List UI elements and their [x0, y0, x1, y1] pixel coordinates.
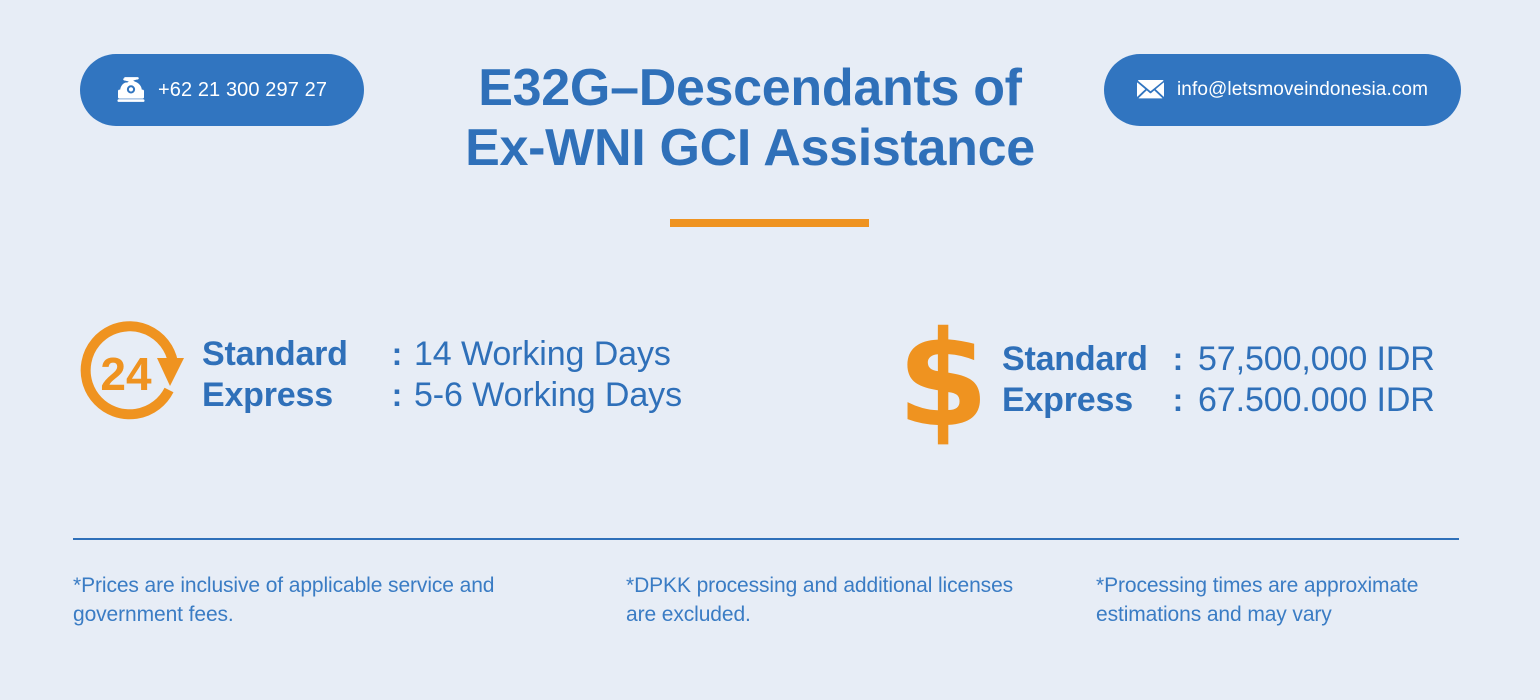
row-label: Standard: [1002, 340, 1158, 379]
info-band: 24 Standard : 14 Working Days Express : …: [0, 300, 1540, 460]
footnote-dpkk: *DPKK processing and additional licenses…: [626, 572, 1026, 629]
row-label: Express: [1002, 381, 1158, 420]
telephone-icon: [117, 77, 145, 103]
row-separator: :: [380, 377, 414, 414]
24-hour-clock-arrow-icon: 24: [74, 316, 192, 434]
phone-contact-pill[interactable]: +62 21 300 297 27: [80, 54, 364, 126]
envelope-icon: [1137, 80, 1164, 100]
pricing-row-express: Express : 67.500.000 IDR: [1002, 381, 1435, 420]
footnotes: *Prices are inclusive of applicable serv…: [0, 572, 1540, 662]
processing-time-rows: Standard : 14 Working Days Express : 5-6…: [202, 335, 682, 415]
page-title: E32G–Descendants of Ex-WNI GCI Assistanc…: [370, 58, 1130, 179]
dollar-sign-glyph: $: [897, 314, 989, 446]
row-value: 57,500,000 IDR: [1198, 340, 1435, 379]
processing-time-row-standard: Standard : 14 Working Days: [202, 335, 682, 374]
page-title-line-1: E32G–Descendants of: [370, 58, 1130, 118]
footer-divider: [73, 538, 1459, 540]
footnote-prices: *Prices are inclusive of applicable serv…: [73, 572, 533, 629]
dollar-sign-icon: $: [900, 318, 986, 442]
row-value: 67.500.000 IDR: [1198, 381, 1435, 420]
row-separator: :: [380, 336, 414, 373]
page-title-line-2: Ex-WNI GCI Assistance: [370, 118, 1130, 178]
email-address-text: info@letsmoveindonesia.com: [1177, 79, 1428, 101]
row-separator: :: [1158, 341, 1198, 378]
row-separator: :: [1158, 382, 1198, 419]
row-value: 5-6 Working Days: [414, 376, 682, 415]
row-label: Express: [202, 376, 380, 415]
phone-number-text: +62 21 300 297 27: [158, 79, 327, 102]
pricing-row-standard: Standard : 57,500,000 IDR: [1002, 340, 1435, 379]
footnote-processing-times: *Processing times are approximate estima…: [1096, 572, 1496, 629]
processing-time-group: 24 Standard : 14 Working Days Express : …: [74, 316, 682, 434]
row-value: 14 Working Days: [414, 335, 671, 374]
svg-text:24: 24: [100, 348, 152, 400]
header: +62 21 300 297 27 E32G–Descendants of Ex…: [0, 0, 1540, 250]
email-contact-pill[interactable]: info@letsmoveindonesia.com: [1104, 54, 1461, 126]
pricing-group: $ Standard : 57,500,000 IDR Express : 67…: [900, 318, 1435, 442]
row-label: Standard: [202, 335, 380, 374]
processing-time-row-express: Express : 5-6 Working Days: [202, 376, 682, 415]
title-underline-divider: [670, 219, 869, 227]
pricing-rows: Standard : 57,500,000 IDR Express : 67.5…: [1002, 340, 1435, 420]
